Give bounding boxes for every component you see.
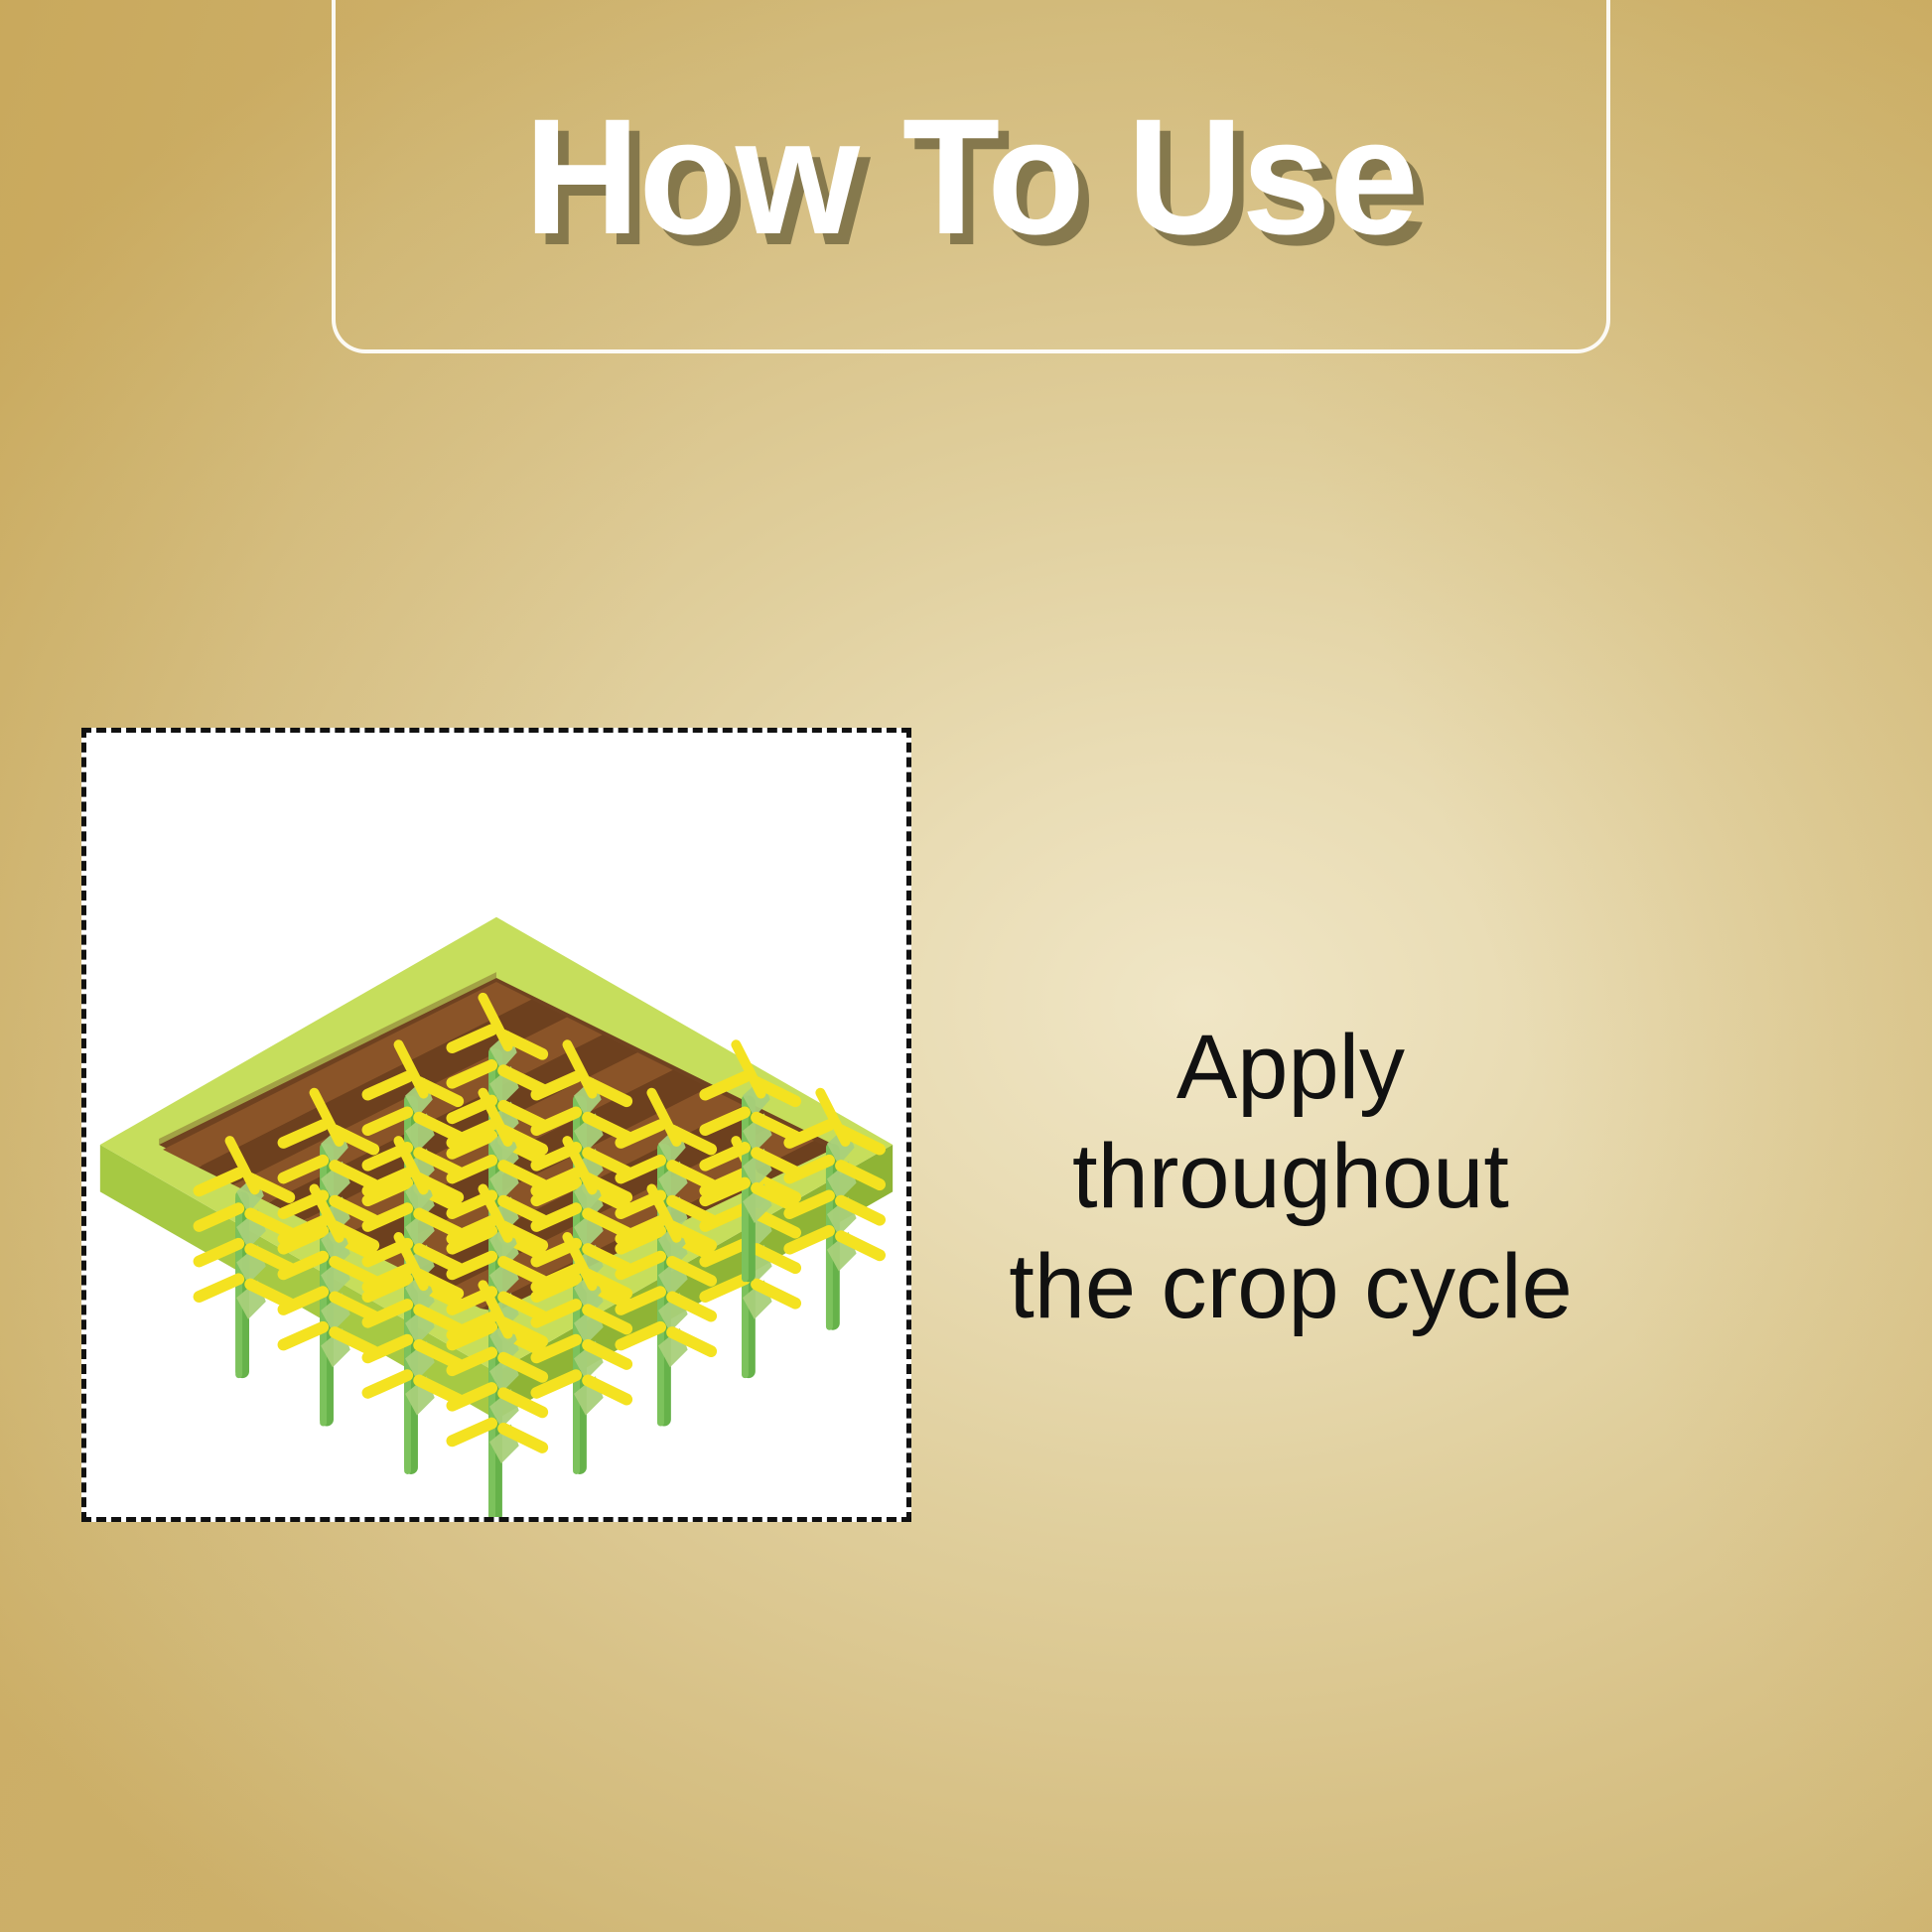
- instruction-text: Apply throughout the crop cycle: [953, 1013, 1628, 1341]
- instruction-line-2: the crop cycle: [953, 1232, 1628, 1341]
- illustration-frame: [81, 728, 911, 1522]
- page-title: How To Use: [350, 95, 1590, 260]
- slide-canvas: How To Use: [0, 0, 1932, 1932]
- isometric-crop-field-icon: [86, 733, 906, 1517]
- instruction-line-1: Apply throughout: [953, 1013, 1628, 1232]
